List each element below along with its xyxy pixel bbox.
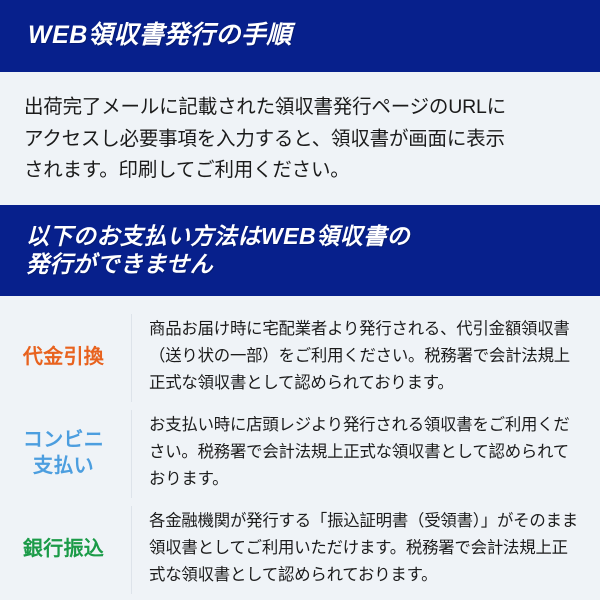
intro-line: 出荷完了メールに記載された領収書発行ページのURLに [24,92,578,124]
main-header-band: WEB領収書発行の手順 [0,0,600,72]
method-description-line: 正式な領収書として認められております。 [149,370,594,397]
method-label-cell: 銀行振込 [0,506,132,594]
method-label-konbini: コンビニ 支払い [23,428,104,479]
method-body-cell: お支払い時に店頭レジより発行される領収書をご利用くだ さい。税務署で会計法規上正… [132,410,600,494]
method-description-cod: 商品お届け時に宅配業者より発行される、代引金額領収書 （送り状の一部）をご利用く… [149,316,594,398]
method-description-line: さい。税務署で会計法規上正式な領収書として認められて [149,439,594,466]
method-description-line: 商品お届け時に宅配業者より発行される、代引金額領収書 [149,316,594,343]
method-body-cell: 商品お届け時に宅配業者より発行される、代引金額領収書 （送り状の一部）をご利用く… [132,314,600,398]
method-description-line: 式な領収書として認められております。 [149,562,594,589]
method-description-line: おります。 [149,466,594,493]
receipt-info-graphic: WEB領収書発行の手順 出荷完了メールに記載された領収書発行ページのURLに ア… [0,0,600,600]
intro-paragraph: 出荷完了メールに記載された領収書発行ページのURLに アクセスし必要事項を入力す… [24,92,578,187]
method-description-line: お支払い時に店頭レジより発行される領収書をご利用くだ [149,412,594,439]
method-label-cod: 代金引換 [23,345,104,371]
method-body-cell: 各金融機関が発行する「振込証明書（受領書）」がそのまま 領収書としてご利用いただ… [132,506,600,590]
method-description-line: （送り状の一部）をご利用ください。税務署で会計法規上 [149,343,594,370]
method-label-cell: コンビニ 支払い [0,410,132,498]
method-label-bank-transfer: 銀行振込 [23,537,104,563]
notice-title: 以下のお支払い方法はWEB領収書の 発行ができません [26,223,600,277]
method-description-line: 領収書としてご利用いただけます。税務署で会計法規上正 [149,535,594,562]
method-description-konbini: お支払い時に店頭レジより発行される領収書をご利用くだ さい。税務署で会計法規上正… [149,412,594,494]
notice-title-line: 以下のお支払い方法はWEB領収書の [26,223,600,250]
payment-method-row-bank-transfer: 銀行振込 各金融機関が発行する「振込証明書（受領書）」がそのまま 領収書としてご… [0,500,600,596]
method-description-line: 各金融機関が発行する「振込証明書（受領書）」がそのまま [149,508,594,535]
method-label-cell: 代金引換 [0,314,132,402]
intro-line: されます。印刷してご利用ください。 [24,155,578,187]
payment-methods-list: 代金引換 商品お届け時に宅配業者より発行される、代引金額領収書 （送り状の一部）… [0,296,600,596]
notice-title-line: 発行ができません [26,251,600,278]
page-title: WEB領収書発行の手順 [28,21,600,51]
intro-line: アクセスし必要事項を入力すると、領収書が画面に表示 [24,124,578,156]
payment-method-row-konbini: コンビニ 支払い お支払い時に店頭レジより発行される領収書をご利用くだ さい。税… [0,404,600,500]
payment-method-row-cod: 代金引換 商品お届け時に宅配業者より発行される、代引金額領収書 （送り状の一部）… [0,308,600,404]
method-description-bank-transfer: 各金融機関が発行する「振込証明書（受領書）」がそのまま 領収書としてご利用いただ… [149,508,594,590]
intro-section: 出荷完了メールに記載された領収書発行ページのURLに アクセスし必要事項を入力す… [0,72,600,205]
notice-header-band: 以下のお支払い方法はWEB領収書の 発行ができません [0,205,600,296]
